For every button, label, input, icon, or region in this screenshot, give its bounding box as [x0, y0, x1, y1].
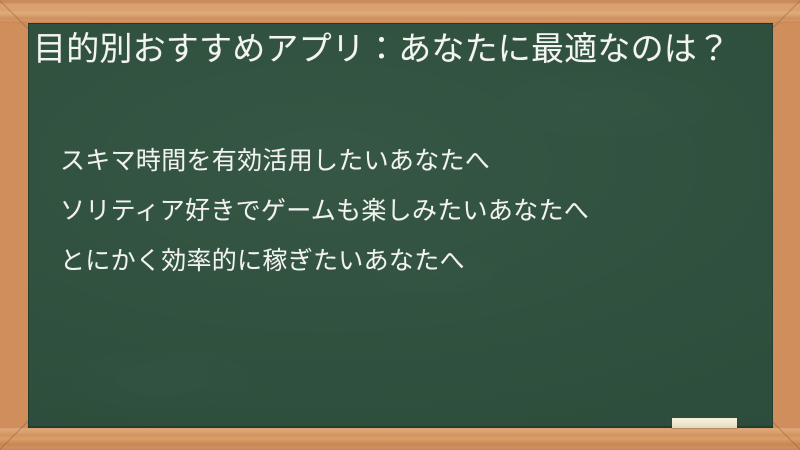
list-item: スキマ時間を有効活用したいあなたへ: [60, 148, 589, 198]
slide-title: 目的別おすすめアプリ：あなたに最適なのは？: [33, 28, 745, 71]
chalkboard-slide: 目的別おすすめアプリ：あなたに最適なのは？ スキマ時間を有効活用したいあなたへ …: [0, 0, 800, 450]
list-item: とにかく効率的に稼ぎたいあなたへ: [60, 248, 589, 298]
list-item: ソリティア好きでゲームも楽しみたいあなたへ: [60, 198, 589, 248]
chalkboard-surface: 目的別おすすめアプリ：あなたに最適なのは？ スキマ時間を有効活用したいあなたへ …: [28, 23, 773, 428]
wooden-frame-bottom-rail: [0, 428, 800, 450]
wooden-frame-top-rail: [0, 0, 800, 23]
chalk-stick: [672, 418, 737, 428]
chalkboard-content: 目的別おすすめアプリ：あなたに最適なのは？ スキマ時間を有効活用したいあなたへ …: [28, 23, 773, 428]
slide-bullet-list: スキマ時間を有効活用したいあなたへ ソリティア好きでゲームも楽しみたいあなたへ …: [60, 148, 589, 298]
